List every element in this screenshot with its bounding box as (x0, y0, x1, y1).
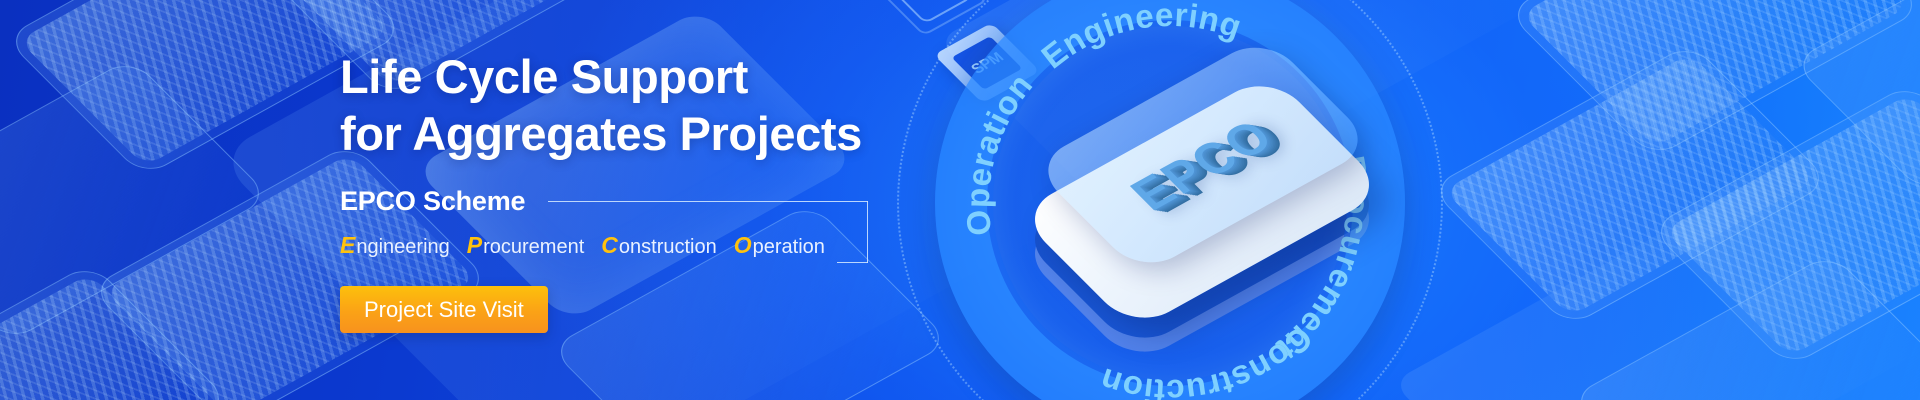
acronym-item-operation: Operation (734, 236, 825, 258)
headline-line-2: for Aggregates Projects (340, 105, 1060, 162)
headline-line-1: Life Cycle Support (340, 48, 1060, 105)
acronym-rest: ngineering (356, 236, 449, 258)
project-site-visit-button[interactable]: Project Site Visit (340, 286, 548, 333)
acronym-item-procurement: Procurement (467, 236, 585, 258)
acronym-rest: rocurement (483, 236, 584, 258)
isometric-platform: EPCO (1053, 86, 1383, 336)
acronym-rest: onstruction (619, 236, 717, 258)
acronym-item-engineering: Engineering (340, 236, 450, 258)
acronym-list: EngineeringProcurementConstructionOperat… (340, 232, 1060, 260)
bracket-bottom-line (837, 262, 868, 263)
scheme-row: EPCO Scheme (340, 184, 1060, 218)
acronym-cap: P (467, 232, 483, 258)
scheme-label: EPCO Scheme (340, 184, 525, 218)
bracket-top-line (548, 201, 868, 202)
acronym-cap: C (601, 232, 619, 258)
acronym-item-construction: Construction (601, 236, 716, 258)
acronym-cap: O (734, 232, 753, 258)
acronym-cap: E (340, 232, 356, 258)
acronym-rest: peration (753, 236, 825, 258)
hero-banner: SPM Engineering Engineering (0, 0, 1920, 400)
hero-content: Life Cycle Support for Aggregates Projec… (340, 48, 1060, 333)
bracket-right-line (867, 201, 868, 263)
